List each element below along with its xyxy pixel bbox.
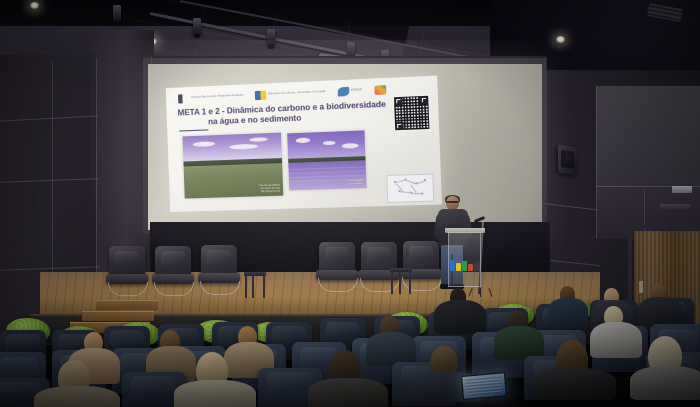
audience-shoulders: [366, 332, 416, 366]
audience-shoulders: [308, 378, 388, 407]
auditorium-photo: Instituto Nacional de Pesquisas Espaciai…: [0, 0, 700, 407]
audience-shoulders: [638, 297, 682, 327]
audience-laptop[interactable]: [461, 372, 509, 400]
laptop-screen: [461, 372, 507, 400]
audience-shoulders: [548, 298, 588, 326]
audience-shoulders: [494, 326, 544, 360]
laptop-screen-content: [465, 377, 502, 396]
audience-shoulders: [34, 386, 120, 407]
audience-shoulders: [590, 322, 642, 358]
audience-area: [0, 0, 700, 407]
audience-shoulders: [174, 380, 256, 407]
audience-shoulders: [534, 368, 616, 400]
audience-shoulders: [630, 366, 700, 400]
audience-shoulders: [434, 300, 486, 334]
